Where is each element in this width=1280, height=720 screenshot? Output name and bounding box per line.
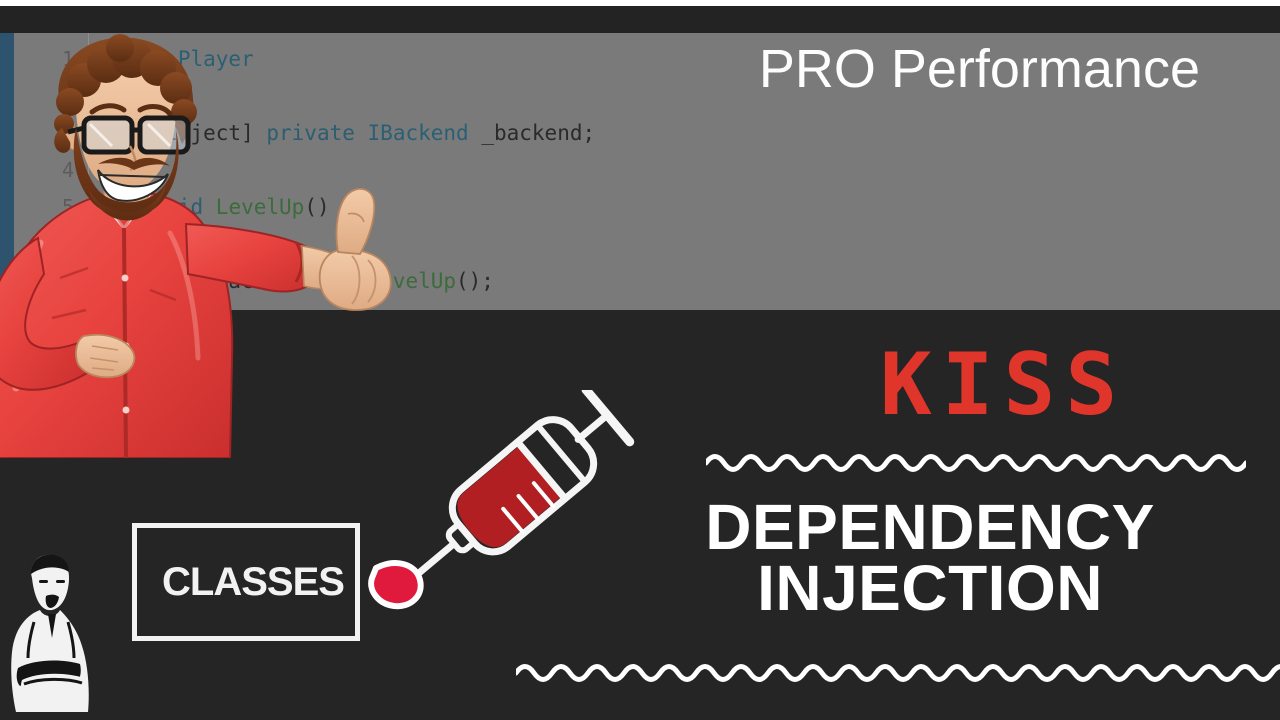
classes-label: CLASSES — [158, 560, 348, 605]
syringe-icon — [340, 390, 660, 620]
title-line-2: INJECTION — [630, 558, 1230, 619]
blood-drop-icon — [371, 563, 421, 606]
pro-performance-title: PRO Performance — [759, 38, 1200, 100]
thumbnail-canvas: 1 class Player 2 { 3 [Inject] private IB… — [0, 0, 1280, 720]
code-token: _backend; — [469, 121, 595, 145]
kiss-label: KISS — [880, 342, 1127, 428]
character-glasses — [68, 118, 188, 152]
wavy-divider-icon — [516, 660, 1280, 686]
channel-avatar-logo — [4, 552, 100, 720]
page-title: DEPENDENCY INJECTION — [630, 497, 1230, 620]
wavy-divider-icon — [706, 450, 1246, 476]
code-token: (); — [456, 269, 494, 293]
character-head — [54, 34, 197, 220]
